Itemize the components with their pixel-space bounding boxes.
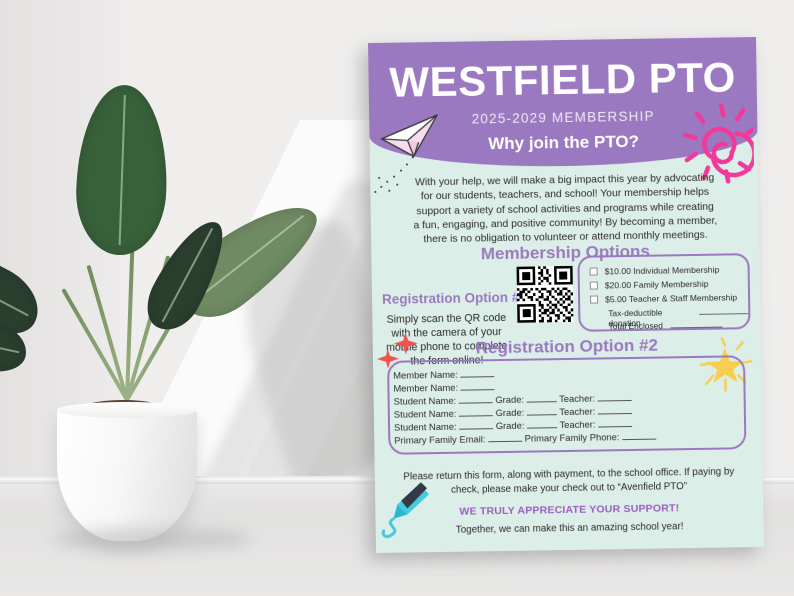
pot-shadow	[52, 528, 252, 550]
field-label: Grade:	[496, 420, 525, 431]
field-label: Grade:	[495, 394, 524, 405]
checkbox-label: $10.00 Individual Membership	[605, 265, 720, 277]
plant-pot	[57, 406, 197, 541]
write-in-blank[interactable]	[527, 401, 557, 402]
pot-rim	[57, 402, 197, 418]
return-instructions: Please return this form, along with paym…	[397, 465, 741, 498]
flyer-body-paragraph: With your help, we will make a big impac…	[412, 172, 718, 248]
checkbox-individual[interactable]	[590, 268, 598, 276]
membership-options-box: $10.00 Individual Membership $20.00 Fami…	[577, 253, 750, 332]
write-in-blank[interactable]	[527, 414, 557, 415]
field-label: Student Name:	[394, 421, 457, 433]
field-label: Student Name:	[394, 395, 457, 407]
write-in-blank[interactable]	[461, 389, 495, 391]
mockup-scene: WESTFIELD PTO 2025-2029 MEMBERSHIP Why j…	[0, 0, 794, 596]
field-label: Member Name:	[393, 382, 458, 394]
checkbox-label: $5.00 Teacher & Staff Membership	[605, 292, 737, 304]
registration-option-1-heading: Registration Option #1	[382, 290, 527, 307]
write-in-blank[interactable]	[598, 400, 632, 402]
closing-message: Together, we can make this an amazing sc…	[398, 519, 742, 538]
write-in-blank[interactable]	[699, 306, 748, 315]
write-in-blank[interactable]	[459, 402, 493, 404]
checkbox-teacher-staff[interactable]	[590, 295, 598, 303]
field-label: Teacher:	[559, 419, 595, 431]
write-in-blank[interactable]	[671, 320, 723, 329]
write-in-blank[interactable]	[459, 428, 493, 430]
write-in-blank[interactable]	[598, 426, 632, 428]
field-label: Primary Family Email:	[394, 433, 485, 445]
write-in-blank[interactable]	[459, 415, 493, 417]
write-in-blank[interactable]	[598, 413, 632, 415]
form-field-member-name-2[interactable]: Member Name:	[393, 381, 494, 394]
form-field-member-name-1[interactable]: Member Name:	[393, 368, 494, 381]
write-in-blank[interactable]	[488, 441, 522, 443]
field-label: Student Name:	[394, 408, 457, 420]
field-label: Member Name:	[393, 369, 458, 381]
membership-checkbox-row[interactable]: $5.00 Teacher & Staff Membership	[590, 292, 737, 304]
cyan-marker-icon	[379, 480, 436, 547]
write-in-blank[interactable]	[460, 376, 494, 378]
membership-checkbox-row[interactable]: $20.00 Family Membership	[590, 279, 709, 291]
pto-membership-flyer[interactable]: WESTFIELD PTO 2025-2029 MEMBERSHIP Why j…	[368, 37, 764, 553]
write-in-blank[interactable]	[622, 439, 656, 441]
flyer-title: WESTFIELD PTO	[368, 53, 757, 107]
field-label: Total Enclosed	[608, 320, 663, 331]
total-enclosed-line[interactable]: Total Enclosed	[608, 320, 723, 332]
write-in-blank[interactable]	[527, 427, 557, 428]
field-label: Grade:	[496, 407, 525, 418]
field-label: Primary Family Phone:	[525, 431, 620, 443]
checkbox-family[interactable]	[590, 281, 598, 289]
checkbox-label: $20.00 Family Membership	[605, 279, 709, 291]
qr-code[interactable]	[517, 266, 574, 323]
field-label: Teacher:	[559, 406, 595, 418]
membership-checkbox-row[interactable]: $10.00 Individual Membership	[590, 265, 720, 277]
field-label: Teacher:	[559, 393, 595, 405]
